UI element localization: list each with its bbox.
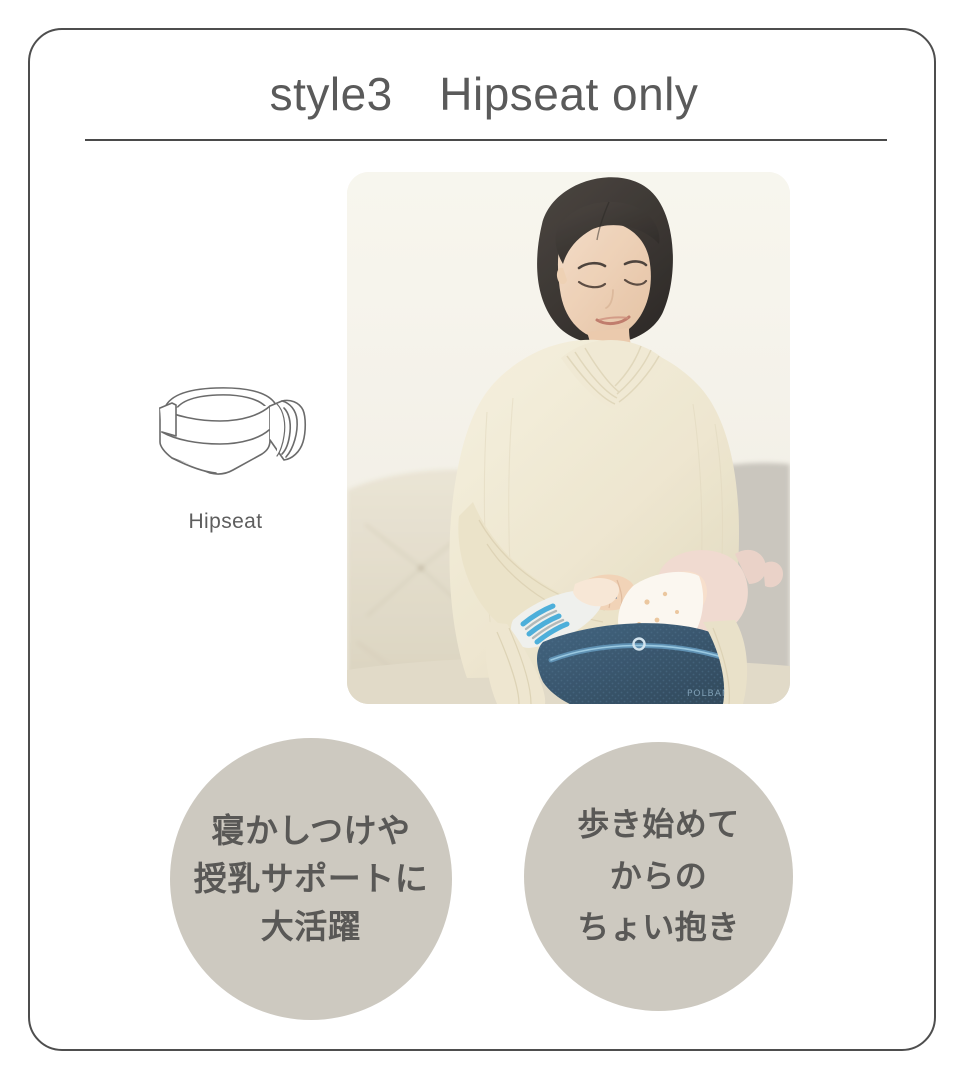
feature-circle-1: 寝かしつけや 授乳サポートに 大活躍 [170, 738, 452, 1020]
hipseat-lifestyle-photo: POLBAN [347, 172, 790, 704]
title-divider [85, 139, 887, 141]
feature-1-line-1: 寝かしつけや [211, 807, 410, 855]
feature-circle-2: 歩き始めて からの ちょい抱き [524, 742, 793, 1011]
feature-1-line-2: 授乳サポートに [194, 855, 429, 903]
feature-2-line-1: 歩き始めて [577, 799, 740, 851]
product-icon-caption: Hipseat [108, 510, 343, 534]
hipseat-outline-icon [138, 380, 313, 480]
feature-circles: 寝かしつけや 授乳サポートに 大活躍 歩き始めて からの ちょい抱き [30, 714, 938, 1014]
feature-2-line-2: からの [610, 851, 708, 903]
style-card: style3 Hipseat only [28, 28, 936, 1051]
product-icon-block: Hipseat [108, 380, 343, 534]
feature-1-line-3: 大活躍 [261, 903, 362, 951]
page-title: style3 Hipseat only [30, 58, 938, 124]
feature-2-line-3: ちょい抱き [577, 902, 740, 954]
